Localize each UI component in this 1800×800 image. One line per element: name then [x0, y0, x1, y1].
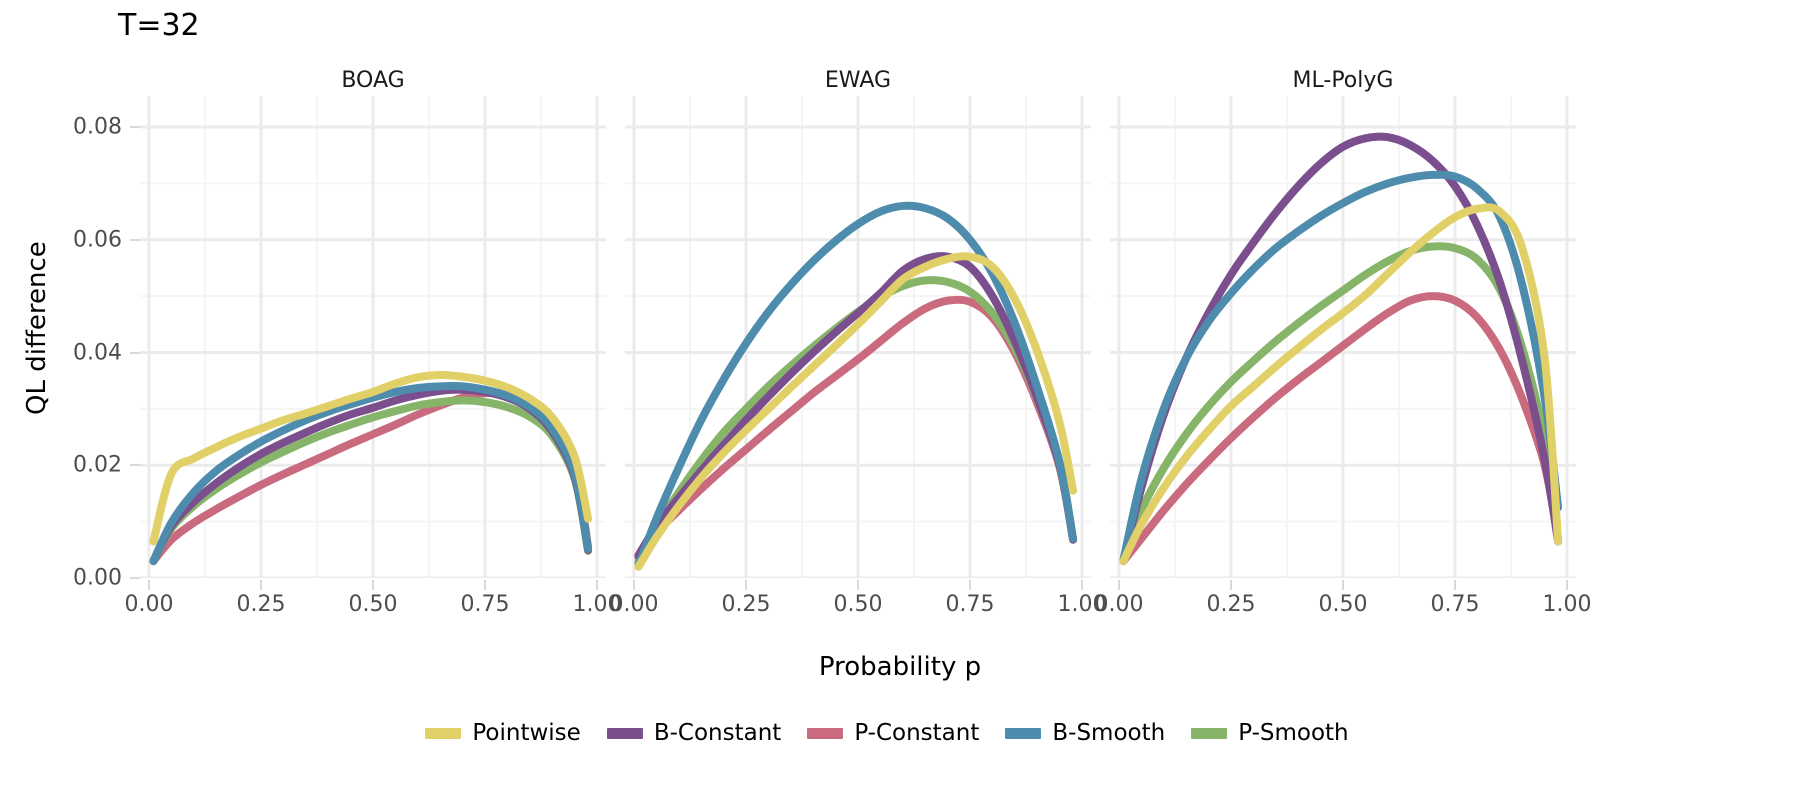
panel-canvas [625, 96, 1091, 578]
x-axis-tick-mark [1118, 580, 1120, 590]
legend-label: Pointwise [472, 720, 580, 746]
y-axis-tick-label: 0.06 [30, 227, 122, 252]
x-axis-tick-mark [969, 580, 971, 590]
panel-canvas [1110, 96, 1576, 578]
y-axis-tick-label: 0.02 [30, 453, 122, 478]
x-axis-tick-label: 0.50 [1319, 592, 1368, 617]
panel-canvas [140, 96, 606, 578]
legend-color-swatch [425, 728, 461, 739]
series-line-p-smooth [1123, 246, 1558, 560]
x-axis-label: Probability p [0, 652, 1800, 682]
y-axis-tick-mark [130, 126, 140, 128]
x-axis-tick-label: 0.50 [349, 592, 398, 617]
page-title: T=32 [118, 8, 200, 43]
x-axis-tick-label: 1.00 [1543, 592, 1592, 617]
facet-panel-ml-polyg [1110, 96, 1576, 578]
chart-legend: PointwiseB-ConstantP-ConstantB-SmoothP-S… [0, 720, 1800, 746]
x-axis-tick-label: 0.00 [1094, 592, 1143, 617]
x-axis-tick-label: 0.75 [461, 592, 510, 617]
y-axis-tick-mark [130, 239, 140, 241]
legend-color-swatch [1191, 728, 1227, 739]
legend-label: P-Smooth [1238, 720, 1348, 746]
grid-major [140, 96, 606, 578]
x-axis-tick-mark [372, 580, 374, 590]
legend-entry-p-constant[interactable]: P-Constant [807, 720, 979, 746]
x-axis-tick-labels-ml-polyg: 0.000.250.500.751.00 [1110, 592, 1576, 632]
y-axis-tick-mark [130, 577, 140, 579]
x-axis-tick-label: 0.50 [834, 592, 883, 617]
y-axis-tick-label: 0.04 [30, 340, 122, 365]
grid-major [1110, 96, 1576, 578]
legend-label: P-Constant [854, 720, 979, 746]
series-line-b-smooth [638, 206, 1073, 566]
x-axis-tick-label: 0.00 [124, 592, 173, 617]
x-axis-tick-mark [1342, 580, 1344, 590]
x-axis-tick-mark [633, 580, 635, 590]
chart-figure: T=32 QL difference Probability p 0.000.0… [0, 0, 1800, 800]
legend-label: B-Constant [654, 720, 781, 746]
x-axis-tick-mark [1454, 580, 1456, 590]
facet-strip-label-boag: BOAG [140, 68, 606, 93]
legend-entry-b-smooth[interactable]: B-Smooth [1005, 720, 1165, 746]
x-axis-tick-mark [857, 580, 859, 590]
x-axis-tick-mark [260, 580, 262, 590]
y-axis-tick-mark [130, 352, 140, 354]
y-axis-tick-label: 0.08 [30, 115, 122, 140]
x-axis-tick-label: 0.25 [721, 592, 770, 617]
x-axis-tick-mark [484, 580, 486, 590]
x-axis-tick-label: 0.25 [1206, 592, 1255, 617]
legend-entry-pointwise[interactable]: Pointwise [425, 720, 580, 746]
legend-label: B-Smooth [1052, 720, 1165, 746]
x-axis-tick-label: 0.75 [1431, 592, 1480, 617]
x-axis-tick-labels-boag: 0.000.250.500.751.00 [140, 592, 606, 632]
legend-color-swatch [607, 728, 643, 739]
x-axis-tick-mark [148, 580, 150, 590]
legend-color-swatch [807, 728, 843, 739]
x-axis-tick-labels-ewag: 0.000.250.500.751.00 [625, 592, 1091, 632]
facet-strip-label-ml-polyg: ML-PolyG [1110, 68, 1576, 93]
y-axis-tick-mark [130, 464, 140, 466]
x-axis-tick-label: 0.00 [609, 592, 658, 617]
y-axis-tick-label: 0.00 [30, 566, 122, 591]
legend-entry-b-constant[interactable]: B-Constant [607, 720, 781, 746]
x-axis-tick-mark [596, 580, 598, 590]
facet-panel-boag [140, 96, 606, 578]
x-axis-tick-label: 0.25 [236, 592, 285, 617]
y-axis-tick-labels: 0.000.020.040.060.08 [30, 0, 122, 800]
x-axis-tick-label: 0.75 [946, 592, 995, 617]
x-axis-tick-mark [1081, 580, 1083, 590]
facet-strip-label-ewag: EWAG [625, 68, 1091, 93]
legend-color-swatch [1005, 728, 1041, 739]
x-axis-tick-mark [1230, 580, 1232, 590]
x-axis-tick-mark [1566, 580, 1568, 590]
series-line-b-smooth [1123, 175, 1558, 560]
facet-panel-ewag [625, 96, 1091, 578]
x-axis-tick-mark [745, 580, 747, 590]
legend-entry-p-smooth[interactable]: P-Smooth [1191, 720, 1348, 746]
